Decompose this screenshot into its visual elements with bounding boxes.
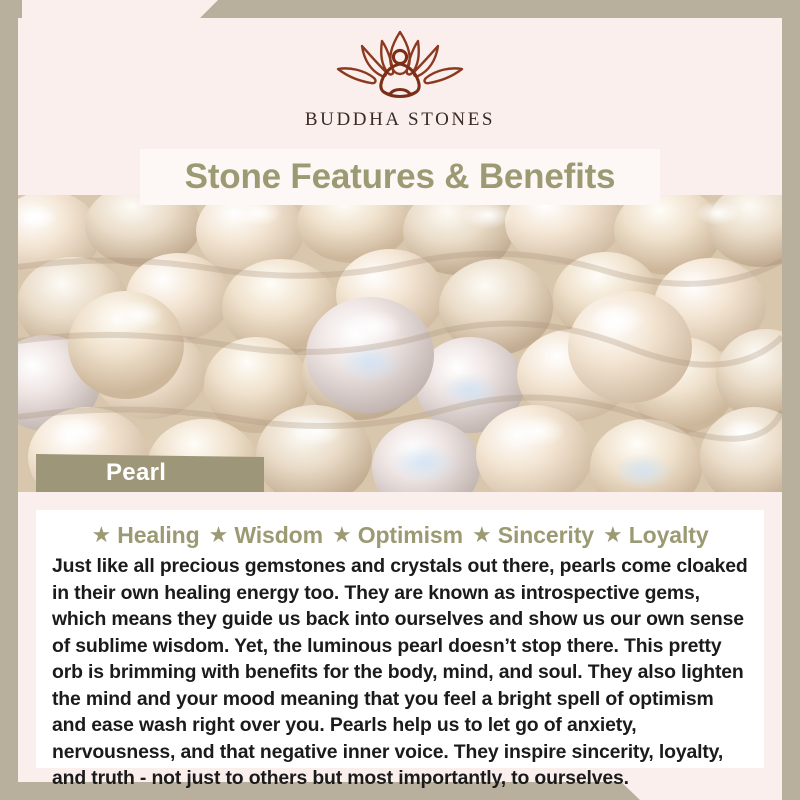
benefits-list: ★ Healing ★ Wisdom ★ Optimism ★ Sincerit… bbox=[38, 519, 762, 551]
benefit-item: ★ Wisdom bbox=[209, 522, 323, 549]
star-icon: ★ bbox=[603, 524, 623, 546]
stone-name-label: Pearl bbox=[36, 459, 166, 487]
benefit-item: ★ Loyalty bbox=[603, 522, 709, 549]
benefit-label: Loyalty bbox=[629, 522, 709, 549]
benefit-label: Sincerity bbox=[498, 522, 594, 549]
stone-name-band: Pearl bbox=[36, 454, 264, 492]
title-ribbon: Stone Features & Benefits bbox=[140, 149, 660, 205]
benefit-item: ★ Sincerity bbox=[472, 522, 594, 549]
star-icon: ★ bbox=[332, 524, 352, 546]
benefit-label: Optimism bbox=[358, 522, 463, 549]
pearl-photo: Pearl bbox=[18, 195, 782, 492]
benefit-label: Wisdom bbox=[234, 522, 323, 549]
stone-description: Just like all precious gemstones and cry… bbox=[38, 553, 762, 792]
brand-header: BUDDHA STONES bbox=[18, 18, 782, 140]
content-panel: ★ Healing ★ Wisdom ★ Optimism ★ Sincerit… bbox=[36, 510, 764, 768]
brand-wordmark: BUDDHA STONES bbox=[305, 109, 495, 131]
benefit-label: Healing bbox=[117, 522, 199, 549]
pearl-photo-image bbox=[18, 195, 782, 492]
star-icon: ★ bbox=[91, 524, 111, 546]
lotus-meditation-figure-icon bbox=[320, 24, 480, 108]
page-title: Stone Features & Benefits bbox=[185, 157, 616, 197]
card-surface: BUDDHA STONES Stone Features & Benefits bbox=[18, 18, 782, 782]
frame-right-band bbox=[782, 0, 800, 800]
benefit-item: ★ Optimism bbox=[332, 522, 463, 549]
star-icon: ★ bbox=[472, 524, 492, 546]
stone-benefits-infographic: BUDDHA STONES Stone Features & Benefits bbox=[0, 0, 800, 800]
benefit-item: ★ Healing bbox=[91, 522, 199, 549]
star-icon: ★ bbox=[209, 524, 229, 546]
